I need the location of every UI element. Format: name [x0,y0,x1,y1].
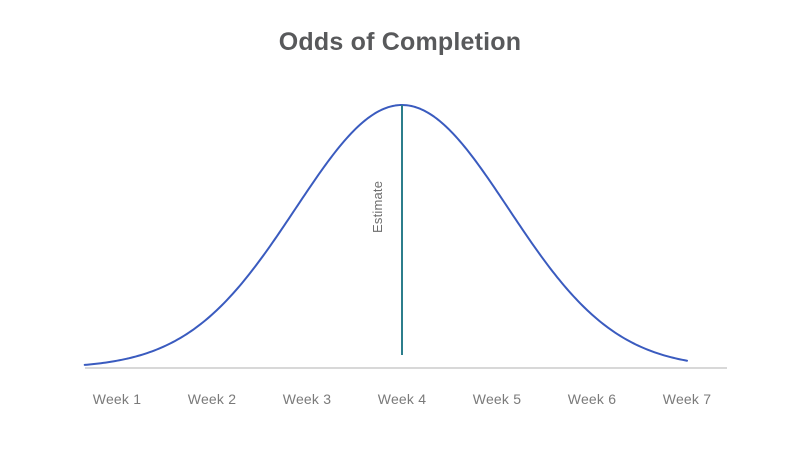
estimate-annotation-label: Estimate [370,217,450,233]
chart-container: Odds of Completion Estimate Week 1Week 2… [0,0,800,453]
x-tick-label: Week 4 [352,391,452,407]
x-tick-label: Week 7 [637,391,737,407]
x-axis-tick-labels: Week 1Week 2Week 3Week 4Week 5Week 6Week… [0,391,800,413]
x-tick-label: Week 3 [257,391,357,407]
x-tick-label: Week 2 [162,391,262,407]
x-tick-label: Week 1 [67,391,167,407]
x-tick-label: Week 6 [542,391,642,407]
bell-curve-line [85,105,687,365]
x-tick-label: Week 5 [447,391,547,407]
